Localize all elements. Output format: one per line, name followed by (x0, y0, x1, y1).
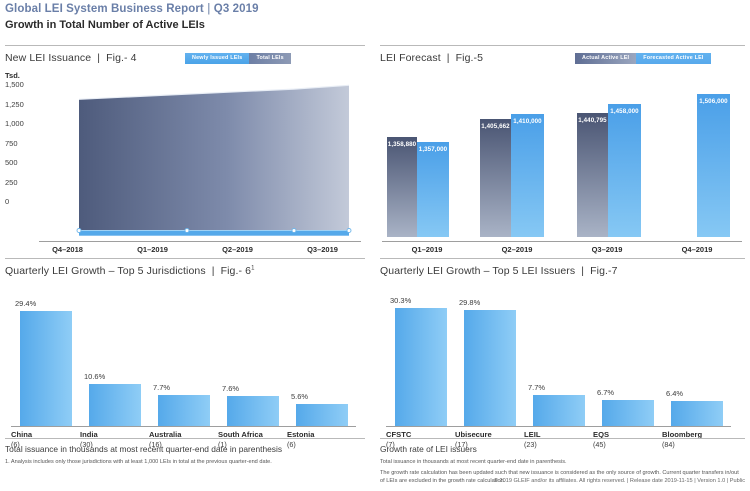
chart2-x-axis-line (382, 241, 742, 242)
chart1-separator: | (97, 52, 100, 64)
chart4-bar (395, 308, 447, 426)
chart3-bar (20, 311, 72, 426)
report-title-line: Global LEI System Business Report | Q3 2… (5, 2, 745, 16)
chart2-actual-value: 1,358,880 (387, 141, 417, 148)
chart1-xtick: Q2–2019 (195, 245, 280, 254)
chart1-ytick: 1,250 (5, 100, 43, 120)
chart1-legend: Newly Issued LEIs Total LEIs (185, 53, 291, 64)
panel-divider (5, 258, 365, 259)
legend-total-leis: Total LEIs (249, 53, 290, 64)
chart4-x-axis-line (386, 426, 731, 427)
chart2-xtick: Q1–2019 (382, 245, 472, 254)
chart4-figure: Fig.-7 (590, 265, 617, 277)
chart1-ytick: 250 (5, 178, 43, 198)
chart3-bar (296, 404, 348, 426)
page-footer: © 2019 GLEIF and/or its affiliates. All … (0, 478, 745, 484)
panel-jurisdictions-title: Quarterly LEI Growth – Top 5 Jurisdictio… (5, 265, 365, 277)
chart4-value-label: 6.4% (666, 389, 683, 398)
chart3-value-label: 29.4% (15, 299, 36, 308)
chart1-ytick: 500 (5, 158, 43, 178)
chart3-bar (227, 396, 279, 426)
chart3-plot-area: 29.4% 10.6% 7.7% 7.6% 5.6% (11, 286, 356, 426)
chart3-footnote-marker: 1 (251, 266, 254, 272)
chart4-bar (671, 401, 723, 426)
notes-divider (5, 438, 365, 439)
notes-jurisdictions: Total issuance in thousands at most rece… (5, 438, 365, 466)
chart3-column: 7.7% (149, 286, 218, 426)
report-header: Global LEI System Business Report | Q3 2… (5, 2, 745, 32)
panel-lei-forecast: LEI Forecast | Fig.-5 Actual Active LEI … (380, 45, 745, 235)
chart2-bar-group: 1,440,795 1,458,000 (577, 104, 641, 237)
chart1-y-unit: Tsd. (5, 71, 43, 80)
chart2-xtick: Q4–2019 (652, 245, 742, 254)
chart1-total-leis-area (79, 85, 349, 235)
chart4-column: 6.7% (593, 286, 662, 426)
chart2-actual-bar: 1,440,795 (577, 113, 608, 237)
chart4-value-label: 7.7% (528, 383, 545, 392)
chart2-actual-bar: 1,358,880 (387, 137, 417, 237)
chart2-forecast-bar: 1,458,000 (608, 104, 641, 237)
chart2-actual-value: 1,440,795 (577, 117, 608, 124)
chart1-plot-area (39, 79, 361, 239)
chart3-figure: Fig.- 6 (221, 265, 251, 277)
jurisdictions-note-title: Total issuance in thousands at most rece… (5, 444, 365, 455)
panel-divider (5, 45, 365, 46)
chart1-ytick: 0 (5, 197, 43, 217)
chart1-x-labels: Q4–2018 Q1–2019 Q2–2019 Q3–2019 (25, 245, 365, 254)
chart4-bar (602, 400, 654, 426)
chart3-separator: | (212, 265, 215, 277)
chart2-plot-area: 1,358,880 1,357,000 1,405,662 1,410,000 … (382, 75, 742, 237)
chart2-forecast-value: 1,458,000 (608, 108, 641, 115)
chart2-figure: Fig.-5 (456, 52, 483, 64)
issuers-note-line-1: Total issuance in thousands at most rece… (380, 458, 745, 466)
chart2-separator: | (447, 52, 450, 64)
chart2-xtick: Q2–2019 (472, 245, 562, 254)
chart1-newly-issued-band (79, 231, 349, 236)
chart4-separator: | (581, 265, 584, 277)
panel-issuers-title: Quarterly LEI Growth – Top 5 LEI Issuers… (380, 265, 745, 277)
chart1-xtick: Q4–2018 (25, 245, 110, 254)
chart4-column: 7.7% (524, 286, 593, 426)
chart1-ytick: 1,000 (5, 119, 43, 139)
chart3-value-label: 7.7% (153, 383, 170, 392)
chart4-value-label: 29.8% (459, 298, 480, 307)
chart3-value-label: 7.6% (222, 384, 239, 393)
panel-divider (380, 45, 745, 46)
chart2-x-labels: Q1–2019 Q2–2019 Q3–2019 Q4–2019 (382, 245, 742, 254)
title-separator: | (207, 3, 210, 15)
chart4-bar (533, 395, 585, 426)
chart2-forecast-bar: 1,506,000 (697, 94, 730, 237)
chart3-bar (89, 384, 141, 426)
chart3-bar (158, 395, 210, 426)
chart2-bar-group: 1,358,880 1,357,000 (387, 137, 449, 237)
chart1-area-svg (39, 79, 361, 239)
chart3-x-axis-line (11, 426, 356, 427)
chart2-xtick: Q3–2019 (562, 245, 652, 254)
chart3-column: 29.4% (11, 286, 80, 426)
chart1-xtick: Q1–2019 (110, 245, 195, 254)
chart2-title: LEI Forecast (380, 52, 441, 64)
chart2-actual-value: 1,405,662 (480, 123, 511, 130)
panel-new-lei-issuance: New LEI Issuance | Fig.- 4 Newly Issued … (5, 45, 365, 235)
legend-newly-issued-leis: Newly Issued LEIs (185, 53, 249, 64)
panel-divider (380, 258, 745, 259)
report-page: Global LEI System Business Report | Q3 2… (0, 0, 750, 491)
chart4-title: Quarterly LEI Growth – Top 5 LEI Issuers (380, 265, 575, 277)
chart4-column: 30.3% (386, 286, 455, 426)
chart4-column: 29.8% (455, 286, 524, 426)
chart2-bar-group: 1,506,000 (697, 94, 730, 237)
chart1-figure: Fig.- 4 (106, 52, 136, 64)
chart1-x-axis-line (39, 241, 361, 242)
report-subtitle: Growth in Total Number of Active LEIs (5, 18, 745, 32)
chart3-title: Quarterly LEI Growth – Top 5 Jurisdictio… (5, 265, 206, 277)
chart2-forecast-value: 1,506,000 (697, 98, 730, 105)
legend-actual-active-lei: Actual Active LEI (575, 53, 636, 64)
report-period: Q3 2019 (214, 3, 259, 15)
chart4-value-label: 6.7% (597, 388, 614, 397)
chart1-title: New LEI Issuance (5, 52, 91, 64)
chart2-actual-bar: 1,405,662 (480, 119, 511, 237)
report-title: Global LEI System Business Report (5, 3, 204, 15)
jurisdictions-note-footnote: 1. Analysis includes only those jurisdic… (5, 458, 365, 466)
chart3-column: 7.6% (218, 286, 287, 426)
notes-divider (380, 438, 745, 439)
chart3-column: 10.6% (80, 286, 149, 426)
legend-forecasted-active-lei: Forecasted Active LEI (636, 53, 710, 64)
chart4-plot-area: 30.3% 29.8% 7.7% 6.7% 6.4% (386, 286, 731, 426)
panel-top-jurisdictions: Quarterly LEI Growth – Top 5 Jurisdictio… (5, 258, 365, 438)
chart3-value-label: 10.6% (84, 372, 105, 381)
chart1-xtick: Q3–2019 (280, 245, 365, 254)
chart1-y-axis: Tsd. 1,500 1,250 1,000 750 500 250 0 (5, 71, 43, 217)
chart4-column: 6.4% (662, 286, 731, 426)
chart1-ytick: 750 (5, 139, 43, 159)
chart3-value-label: 5.6% (291, 392, 308, 401)
chart4-value-label: 30.3% (390, 296, 411, 305)
issuers-note-title: Growth rate of LEI issuers (380, 444, 745, 455)
chart2-forecast-bar: 1,410,000 (511, 114, 544, 237)
chart4-bar (464, 310, 516, 426)
chart2-forecast-value: 1,410,000 (511, 118, 544, 125)
panel-top-lei-issuers: Quarterly LEI Growth – Top 5 LEI Issuers… (380, 258, 745, 438)
chart3-column: 5.6% (287, 286, 356, 426)
chart2-legend: Actual Active LEI Forecasted Active LEI (575, 53, 711, 64)
chart1-ytick: 1,500 (5, 80, 43, 100)
chart2-forecast-bar: 1,357,000 (417, 142, 449, 237)
chart2-bar-group: 1,405,662 1,410,000 (480, 114, 544, 237)
chart2-forecast-value: 1,357,000 (417, 146, 449, 153)
